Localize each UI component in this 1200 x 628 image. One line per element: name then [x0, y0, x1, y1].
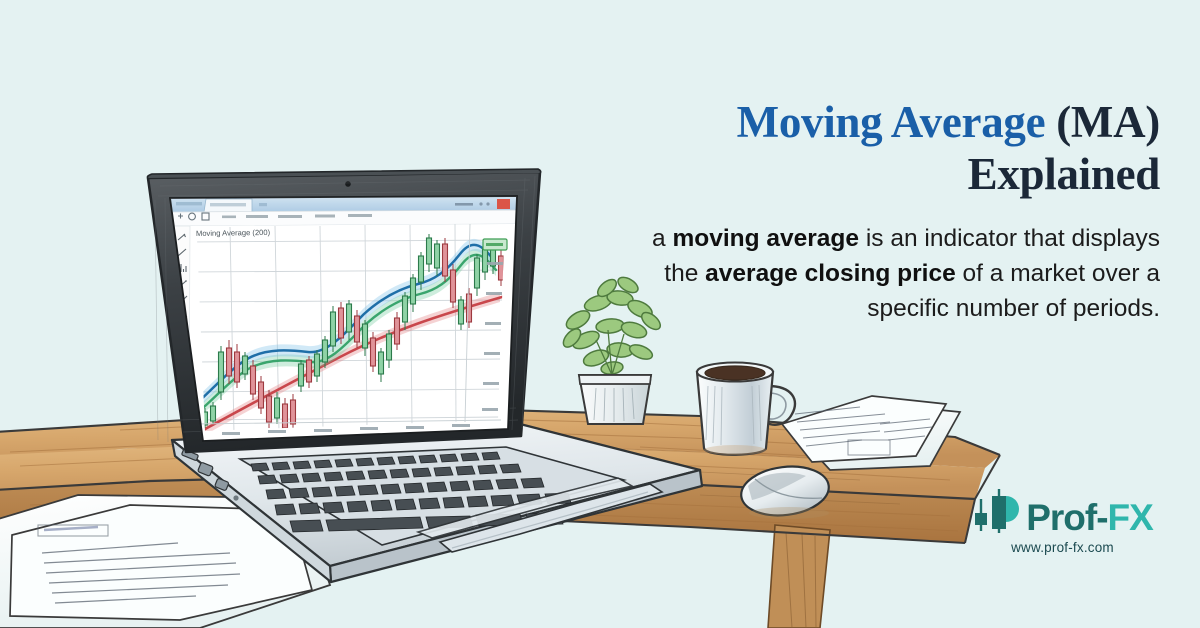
body-seg-bold-1: moving average: [672, 225, 859, 252]
candlestick-logo-icon: [972, 487, 1024, 535]
body-seg-bold-2: average closing price: [705, 260, 956, 287]
poster-canvas: Moving Average (200) Moving Average (MA)…: [0, 0, 1200, 628]
body-seg-1: a: [652, 225, 672, 252]
title-part-explained: Explained: [968, 149, 1160, 199]
chart-title: Moving Average (200): [196, 228, 271, 238]
logo-word-light: FX: [1108, 497, 1153, 538]
body-copy: a moving average is an indicator that di…: [620, 222, 1160, 326]
logo-word-dark: Prof-: [1026, 497, 1107, 538]
papers-right: [782, 396, 960, 470]
brand-logo[interactable]: Prof-FX www.prof-fx.com: [965, 487, 1160, 555]
title-part-blue: Moving Average: [737, 97, 1046, 147]
text-panel: Moving Average (MA) Explained a moving a…: [620, 96, 1160, 327]
logo-url[interactable]: www.prof-fx.com: [965, 540, 1160, 555]
browser-toolbar[interactable]: [172, 210, 516, 226]
logo-row: Prof-FX: [965, 487, 1160, 535]
title-part-abbrev: (MA): [1056, 97, 1160, 147]
logo-wordmark: Prof-FX: [1026, 501, 1153, 535]
page-title: Moving Average (MA) Explained: [620, 96, 1160, 200]
